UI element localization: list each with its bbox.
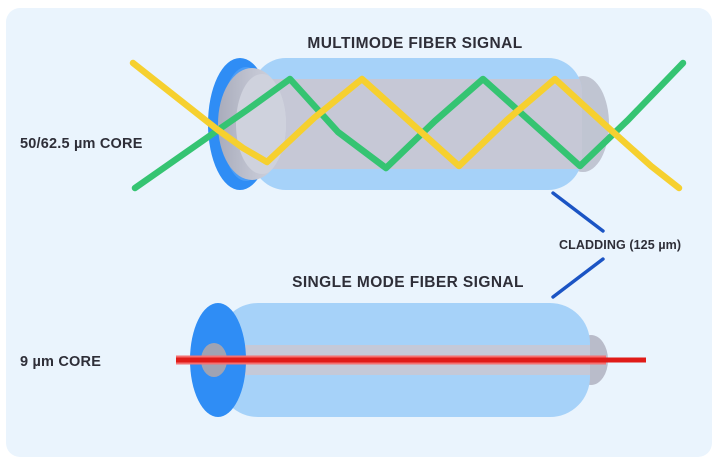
multimode-core-label: 50/62.5 µm CORE [20, 136, 143, 152]
cladding-annotation-label: CLADDING (125 µm) [559, 238, 681, 252]
single-mode-title: SINGLE MODE FIBER SIGNAL [292, 274, 524, 291]
fiber-diagram-canvas: MULTIMODE FIBER SIGNAL 50/62.5 µm CORE C… [0, 0, 720, 465]
single-mode-core-label: 9 µm CORE [20, 354, 101, 370]
fiber-diagram-root: MULTIMODE FIBER SIGNAL 50/62.5 µm CORE C… [0, 0, 720, 465]
multimode-title: MULTIMODE FIBER SIGNAL [307, 35, 522, 52]
